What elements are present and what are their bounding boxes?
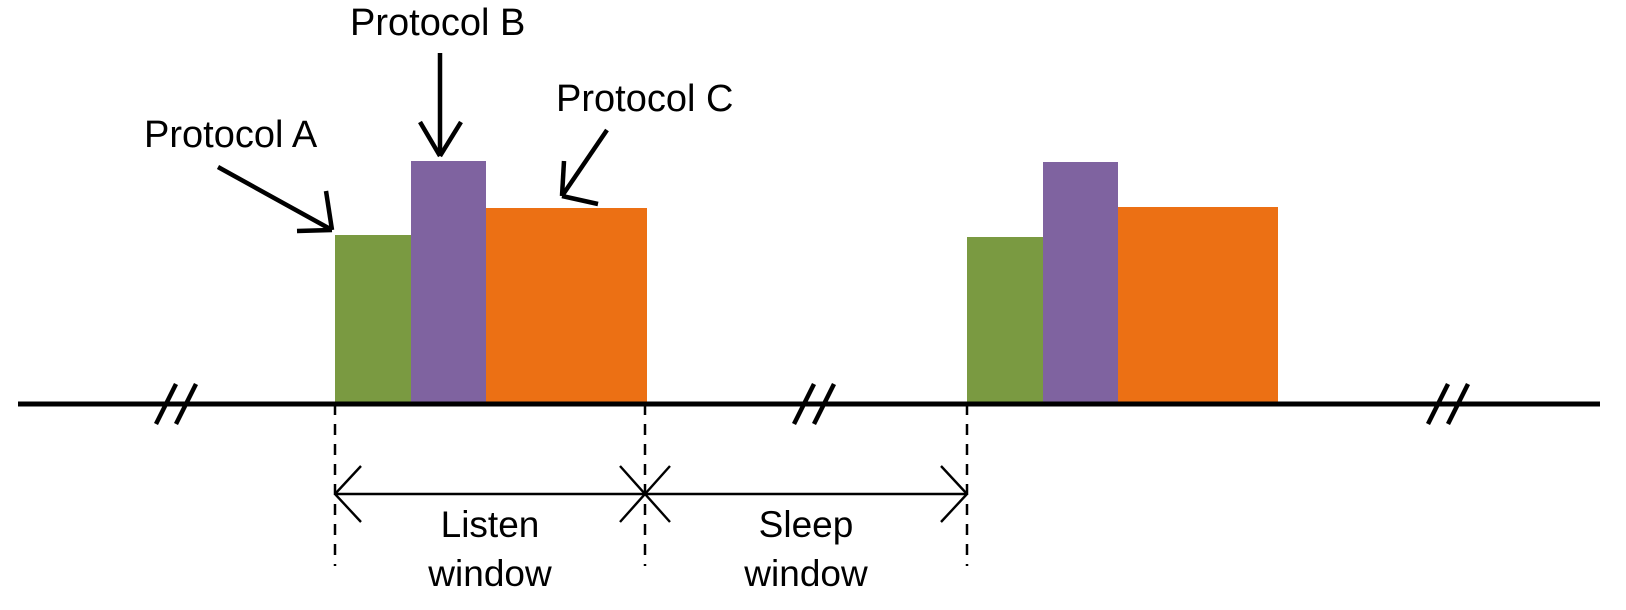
arrow-protocol-b <box>420 53 461 156</box>
arrow-protocol-c <box>562 130 607 204</box>
bar-protocol-b-cycle-2[interactable] <box>1043 162 1118 404</box>
label-protocol-b: Protocol B <box>350 2 525 44</box>
sleep-window-label: Sleep window <box>743 504 868 594</box>
callout-protocol-c: Protocol C <box>556 78 733 204</box>
label-protocol-a: Protocol A <box>144 114 318 156</box>
label-protocol-c: Protocol C <box>556 78 733 120</box>
bar-protocol-a-cycle-2[interactable] <box>967 237 1043 404</box>
listen-window-line-2: window <box>427 553 552 594</box>
bar-group-cycle-1 <box>335 161 647 404</box>
window-measure-arrow <box>335 466 967 522</box>
time-axis <box>18 384 1600 424</box>
diagram-canvas: Protocol A Protocol B Protocol C <box>0 0 1626 610</box>
callout-protocol-b: Protocol B <box>350 2 525 156</box>
bar-protocol-c-cycle-1[interactable] <box>486 208 647 404</box>
guide-lines <box>335 404 967 566</box>
sleep-window-line-2: window <box>743 553 868 594</box>
arrow-protocol-a <box>218 167 332 231</box>
sleep-window-line-1: Sleep <box>759 504 854 545</box>
bar-protocol-c-cycle-2[interactable] <box>1118 207 1278 404</box>
listen-window-line-1: Listen <box>441 504 540 545</box>
bar-protocol-b-cycle-1[interactable] <box>411 161 486 404</box>
listen-window-label: Listen window <box>427 504 552 594</box>
protocol-timeline-diagram: Protocol A Protocol B Protocol C <box>0 0 1626 610</box>
bar-group-cycle-2 <box>967 162 1278 404</box>
bar-protocol-a-cycle-1[interactable] <box>335 235 411 404</box>
callout-protocol-a: Protocol A <box>144 114 332 231</box>
